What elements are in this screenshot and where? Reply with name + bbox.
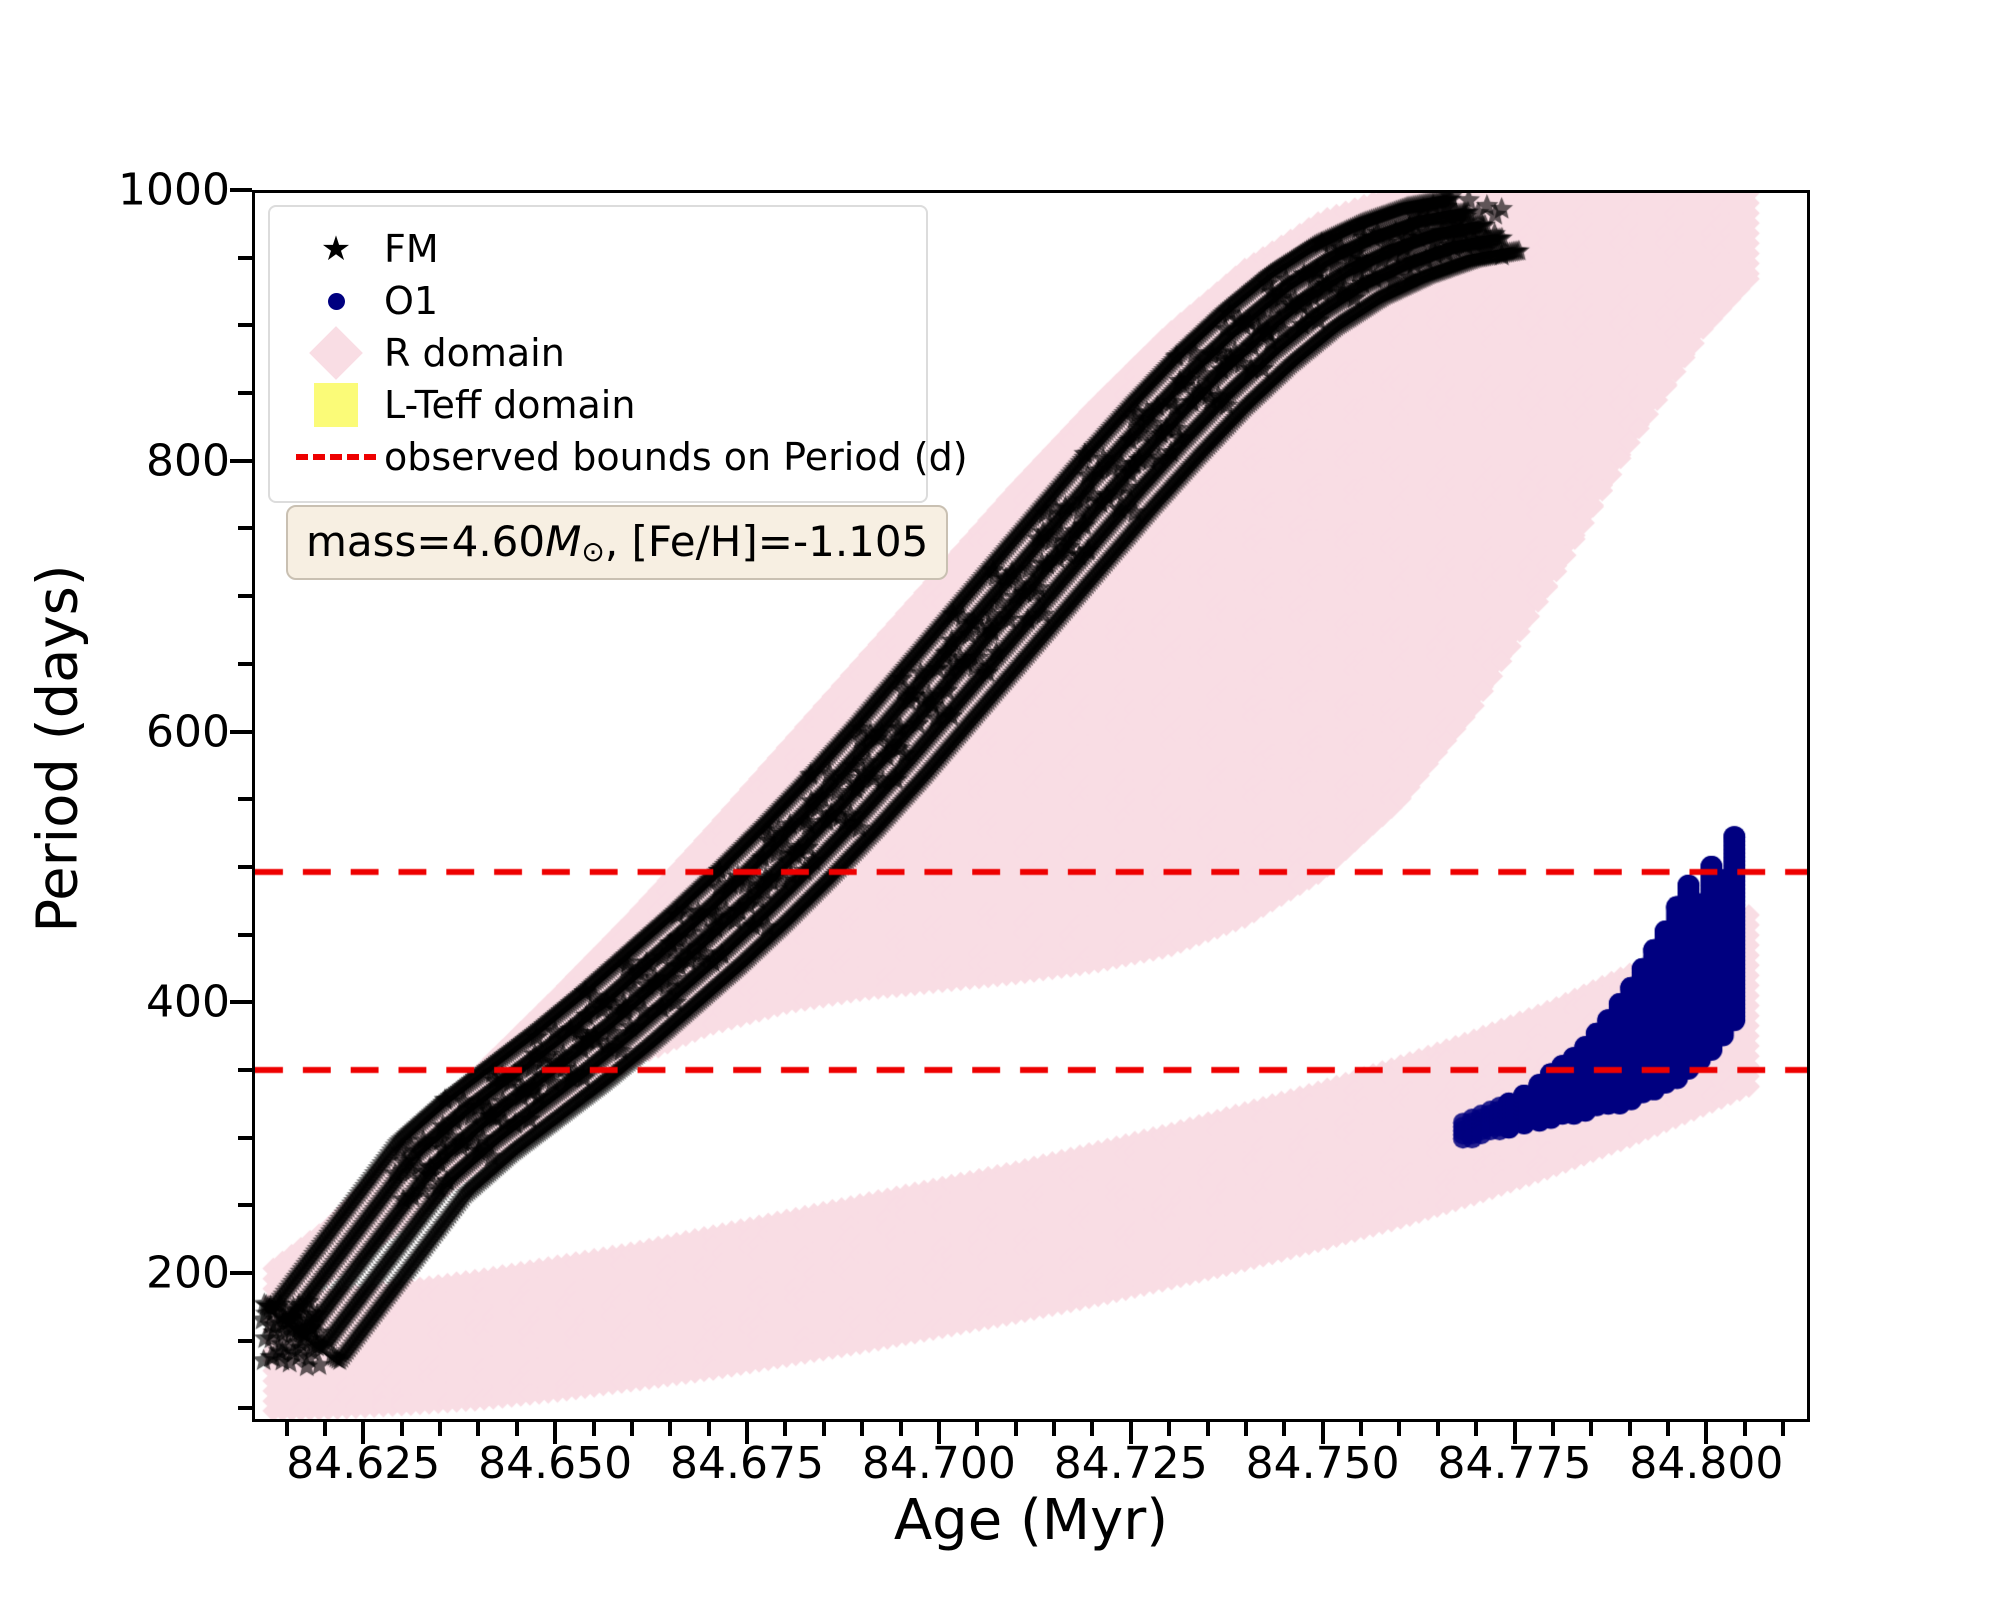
y-tick-label: 600 — [0, 706, 230, 757]
y-tick-major — [230, 730, 252, 734]
x-axis-label: Age (Myr) — [252, 1488, 1810, 1553]
legend-diamond-icon — [309, 326, 363, 380]
chart-figure: Period (days) Age (Myr) 2004006008001000… — [0, 0, 2000, 1600]
x-tick-minor — [1090, 1422, 1094, 1436]
x-tick-minor — [1359, 1422, 1363, 1436]
legend-item-r-domain[interactable]: R domain — [288, 327, 908, 379]
x-tick-minor — [1436, 1422, 1440, 1436]
y-tick-label: 800 — [0, 435, 230, 486]
legend-item-fm[interactable]: ★FM — [288, 223, 908, 275]
x-tick-label: 84.800 — [1576, 1438, 1836, 1489]
x-tick-minor — [1589, 1422, 1593, 1436]
x-tick-minor — [707, 1422, 711, 1436]
legend-star-icon: ★ — [321, 232, 351, 266]
x-tick-minor — [1167, 1422, 1171, 1436]
y-tick-minor — [238, 323, 252, 327]
legend-square-icon — [314, 383, 358, 427]
x-tick-minor — [592, 1422, 596, 1436]
x-tick-minor — [1397, 1422, 1401, 1436]
x-tick-minor — [1206, 1422, 1210, 1436]
annotation-mass-subscript: ⊙ — [581, 535, 604, 568]
x-tick-minor — [1551, 1422, 1555, 1436]
legend-marker — [288, 379, 384, 431]
x-tick-minor — [668, 1422, 672, 1436]
y-tick-label: 200 — [0, 1248, 230, 1299]
x-tick-minor — [822, 1422, 826, 1436]
x-tick-minor — [1743, 1422, 1747, 1436]
y-tick-minor — [238, 1339, 252, 1343]
x-tick-minor — [476, 1422, 480, 1436]
legend-item-o1[interactable]: O1 — [288, 275, 908, 327]
y-tick-minor — [238, 662, 252, 666]
y-tick-minor — [238, 1068, 252, 1072]
annotation-prefix: mass=4.60 — [306, 517, 545, 566]
x-tick-minor — [1014, 1422, 1018, 1436]
y-tick-minor — [238, 256, 252, 260]
x-tick-minor — [1628, 1422, 1632, 1436]
y-tick-minor — [238, 391, 252, 395]
x-tick-minor — [323, 1422, 327, 1436]
x-tick-minor — [1244, 1422, 1248, 1436]
parameter-annotation: mass=4.60M⊙, [Fe/H]=-1.105 — [286, 505, 948, 580]
x-tick-minor — [975, 1422, 979, 1436]
legend-marker: ★ — [288, 223, 384, 275]
x-tick-minor — [515, 1422, 519, 1436]
y-tick-major — [230, 1000, 252, 1004]
y-tick-minor — [238, 1406, 252, 1410]
x-tick-minor — [860, 1422, 864, 1436]
x-tick-minor — [630, 1422, 634, 1436]
legend-item-observed-bounds-on-period-d[interactable]: observed bounds on Period (d) — [288, 431, 908, 483]
chart-legend[interactable]: ★FMO1R domainL-Teff domainobserved bound… — [268, 205, 928, 503]
x-tick-minor — [1781, 1422, 1785, 1436]
y-tick-minor — [238, 797, 252, 801]
y-tick-major — [230, 1271, 252, 1275]
legend-marker — [288, 431, 384, 483]
x-tick-minor — [1282, 1422, 1286, 1436]
legend-label: L-Teff domain — [384, 383, 635, 427]
y-tick-minor — [238, 1136, 252, 1140]
y-tick-minor — [238, 865, 252, 869]
legend-marker — [288, 275, 384, 327]
annotation-mass-symbol: M — [545, 517, 581, 566]
x-tick-minor — [899, 1422, 903, 1436]
y-tick-label: 400 — [0, 977, 230, 1028]
legend-dot-icon — [328, 293, 345, 310]
y-tick-minor — [238, 1203, 252, 1207]
x-tick-minor — [1052, 1422, 1056, 1436]
y-tick-minor — [238, 933, 252, 937]
legend-item-l-teff-domain[interactable]: L-Teff domain — [288, 379, 908, 431]
x-tick-minor — [438, 1422, 442, 1436]
y-tick-minor — [238, 526, 252, 530]
x-tick-minor — [1474, 1422, 1478, 1436]
x-tick-minor — [400, 1422, 404, 1436]
legend-dashed-line-icon — [296, 454, 376, 460]
legend-label: R domain — [384, 331, 565, 375]
legend-label: FM — [384, 227, 439, 271]
y-tick-major — [230, 188, 252, 192]
y-tick-label: 1000 — [0, 165, 230, 216]
y-tick-major — [230, 459, 252, 463]
legend-marker — [288, 327, 384, 379]
legend-label: observed bounds on Period (d) — [384, 435, 968, 479]
y-tick-minor — [238, 594, 252, 598]
x-tick-minor — [783, 1422, 787, 1436]
x-tick-minor — [1666, 1422, 1670, 1436]
x-tick-minor — [285, 1422, 289, 1436]
legend-label: O1 — [384, 279, 438, 323]
annotation-suffix: , [Fe/H]=-1.105 — [605, 517, 929, 566]
